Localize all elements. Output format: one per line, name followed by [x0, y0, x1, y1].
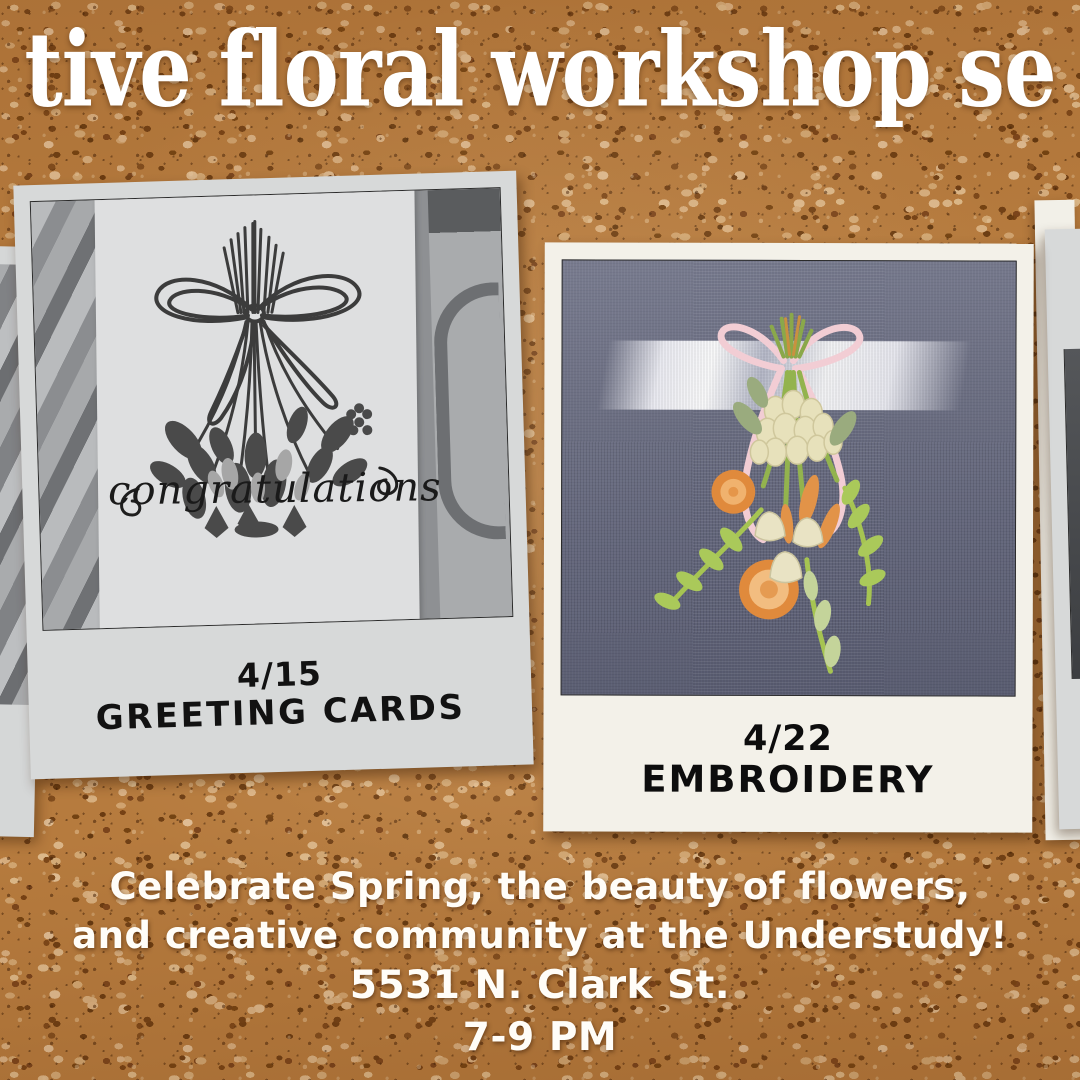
embroidery-photo — [561, 259, 1017, 696]
polaroid-caption-embroidery: 4/22 Embroidery — [560, 695, 1015, 832]
greeting-card-photo: congratulations — [30, 187, 514, 631]
bouquet-drawing-icon — [94, 187, 419, 631]
caption-date: 4/15 — [236, 656, 322, 695]
polaroid-card-greeting-cards[interactable]: congratulations 4/15 Greeting Cards — [13, 171, 533, 780]
event-details: Celebrate Spring, the beauty of flowers,… — [0, 862, 1080, 1064]
polaroid-card-embroidery[interactable]: 4/22 Embroidery — [543, 242, 1034, 832]
greeting-card-paper: congratulations — [94, 187, 419, 631]
caption-title: Embroidery — [641, 758, 934, 800]
greeting-card-backdrop-swirl — [432, 282, 506, 541]
event-line-1: Celebrate Spring, the beauty of flowers, — [0, 862, 1080, 911]
event-line-2: and creative community at the Understudy… — [0, 911, 1080, 960]
poster-title: tive floral workshop se — [0, 16, 1080, 125]
embroidery-bouquet-icon — [562, 260, 1016, 695]
poster-canvas: tive floral workshop se — [0, 0, 1080, 1080]
event-address: 5531 N. Clark St. — [0, 960, 1080, 1012]
caption-date: 4/22 — [743, 720, 833, 759]
polaroid-partial-right-photo — [1064, 347, 1080, 679]
caption-title: Greeting Cards — [95, 689, 466, 738]
event-time: 7-9 PM — [0, 1012, 1080, 1064]
polaroid-caption-greeting-cards: 4/15 Greeting Cards — [43, 617, 518, 779]
greeting-card-word: congratulations — [108, 465, 409, 515]
